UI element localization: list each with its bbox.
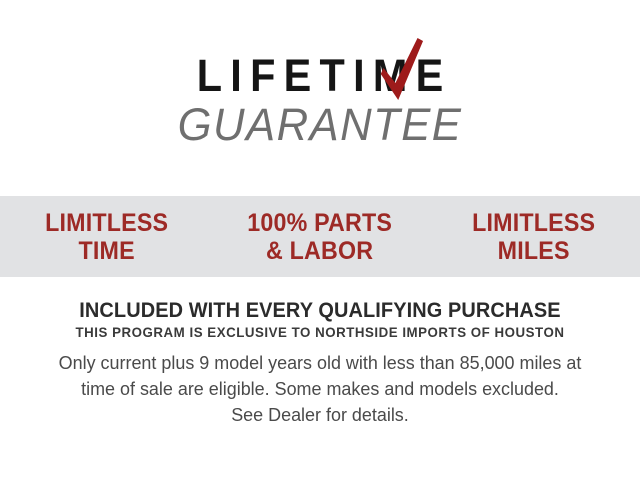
headline-lifetime-text: LIFETIME [197, 50, 452, 101]
benefit-column-parts-labor: 100% PARTS & LABOR [221, 209, 419, 265]
hero-lockup: LIFETIME GUARANTEE [0, 52, 640, 148]
benefit-line-1: 100% PARTS [248, 209, 393, 237]
exclusivity-subtitle: THIS PROGRAM IS EXCLUSIVE TO NORTHSIDE I… [16, 324, 624, 341]
lifetime-guarantee-ad: LIFETIME GUARANTEE LIMITLESS TIME 100% P… [0, 0, 640, 480]
benefit-line-1: LIMITLESS [472, 209, 595, 237]
benefit-line-2: MILES [434, 237, 632, 265]
benefit-line-1: LIMITLESS [45, 209, 168, 237]
benefit-line-2: TIME [7, 237, 205, 265]
fineprint-disclaimer: Only current plus 9 model years old with… [39, 350, 602, 428]
benefit-line-2: & LABOR [221, 237, 419, 265]
benefit-column-limitless-miles: LIMITLESS MILES [434, 209, 632, 265]
headline-lifetime: LIFETIME [188, 52, 451, 100]
headline-guarantee: GUARANTEE [10, 102, 631, 148]
benefit-column-limitless-time: LIMITLESS TIME [7, 209, 205, 265]
fineprint-line: See Dealer for details. [39, 402, 602, 428]
included-headline: INCLUDED WITH EVERY QUALIFYING PURCHASE [16, 299, 624, 323]
benefits-band: LIMITLESS TIME 100% PARTS & LABOR LIMITL… [0, 196, 640, 277]
fineprint-line: time of sale are eligible. Some makes an… [39, 376, 602, 402]
fineprint-line: Only current plus 9 model years old with… [39, 350, 602, 376]
